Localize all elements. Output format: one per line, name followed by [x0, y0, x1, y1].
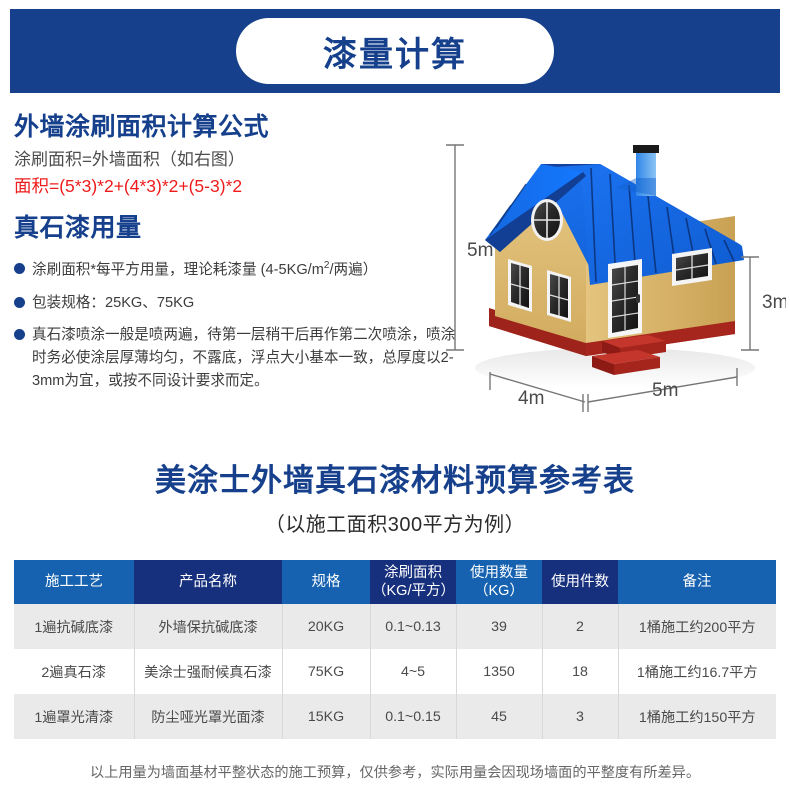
column-header-amount-label: 使用数量 — [458, 564, 540, 582]
table-title-block: 美涂士外墙真石漆材料预算参考表 （以施工面积300平方为例） — [0, 455, 790, 537]
cell-amount: 1350 — [456, 649, 542, 694]
column-header-remark: 备注 — [618, 560, 776, 604]
house-illustration: 5m 3m 4m 5m — [440, 128, 786, 428]
cell-spec: 15KG — [282, 694, 370, 739]
cell-coverage: 0.1~0.15 — [370, 694, 456, 739]
cell-remark: 1桶施工约16.7平方 — [618, 649, 776, 694]
column-header-pieces: 使用件数 — [542, 560, 618, 604]
cell-pieces: 2 — [542, 604, 618, 649]
formula-expression: 面积=(5*3)*2+(4*3)*2+(5-3)*2 — [14, 174, 466, 199]
table-header-row: 施工工艺 产品名称 规格 涂刷面积 （KG/平方） 使用数量 （KG） — [14, 560, 776, 604]
dimension-label-height-right: 3m — [762, 292, 786, 313]
dimension-left-height — [446, 145, 464, 350]
cell-remark: 1桶施工约200平方 — [618, 604, 776, 649]
cell-product: 外墙保抗碱底漆 — [134, 604, 282, 649]
cell-spec: 75KG — [282, 649, 370, 694]
bullet-text: 包装规格：25KG、75KG — [32, 292, 466, 315]
column-header-process: 施工工艺 — [14, 560, 134, 604]
cell-amount: 39 — [456, 604, 542, 649]
column-header-remark-label: 备注 — [620, 573, 774, 591]
dimension-label-width-left: 4m — [518, 388, 544, 409]
cell-coverage: 0.1~0.13 — [370, 604, 456, 649]
column-header-coverage-unit: （KG/平方） — [372, 582, 454, 600]
list-item: 涂刷面积*每平方用量，理论耗漆量 (4-5KG/m2/两遍） — [14, 258, 466, 281]
column-header-product-label: 产品名称 — [136, 573, 280, 591]
table-row: 2遍真石漆 美涂士强耐候真石漆 75KG 4~5 1350 18 1桶施工约16… — [14, 649, 776, 694]
banner-title: 漆量计算 — [323, 27, 467, 76]
table-footnote: 以上用量为墙面基材平整状态的施工预算，仅供参考，实际用量会因现场墙面的平整度有所… — [0, 762, 790, 782]
column-header-spec-label: 规格 — [284, 573, 368, 591]
page-title: 美涂士外墙真石漆材料预算参考表 — [0, 455, 790, 500]
column-header-product: 产品名称 — [134, 560, 282, 604]
dimension-label-height-left: 5m — [467, 240, 493, 261]
banner-pill: 漆量计算 — [236, 18, 554, 84]
bullet-dot-icon — [14, 263, 25, 274]
column-header-amount-unit: （KG） — [458, 582, 540, 600]
column-header-process-label: 施工工艺 — [16, 573, 132, 591]
cell-product: 美涂士强耐候真石漆 — [134, 649, 282, 694]
side-window-1 — [508, 259, 532, 312]
dimension-right-height — [741, 257, 759, 350]
cell-pieces: 3 — [542, 694, 618, 739]
bullet-text: 涂刷面积*每平方用量，理论耗漆量 (4-5KG/m2/两遍） — [32, 258, 466, 281]
column-header-amount: 使用数量 （KG） — [456, 560, 542, 604]
front-window — [672, 248, 712, 286]
door-handle-icon — [636, 294, 640, 303]
formula-heading: 外墙涂刷面积计算公式 — [14, 112, 466, 143]
bullet-text: 真石漆喷涂一般是喷两遍，待第一层稍干后再作第二次喷涂，喷涂时务必使涂层厚薄均匀，… — [32, 324, 466, 392]
bullet-dot-icon — [14, 297, 25, 308]
formula-section: 外墙涂刷面积计算公式 涂刷面积=外墙面积（如右图） 面积=(5*3)*2+(4*… — [14, 112, 466, 402]
usage-bullet-list: 涂刷面积*每平方用量，理论耗漆量 (4-5KG/m2/两遍） 包装规格：25KG… — [14, 258, 466, 392]
list-item: 包装规格：25KG、75KG — [14, 292, 466, 315]
dimension-label-width-right: 5m — [652, 380, 678, 401]
usage-heading: 真石漆用量 — [14, 213, 466, 244]
page-banner: 漆量计算 — [10, 9, 780, 93]
cell-amount: 45 — [456, 694, 542, 739]
house-diagram-svg: 5m 3m 4m 5m — [440, 128, 786, 428]
cell-process: 1遍抗碱底漆 — [14, 604, 134, 649]
bullet-dot-icon — [14, 329, 25, 340]
cell-coverage: 4~5 — [370, 649, 456, 694]
bullet-text-part2: /两遍） — [329, 262, 377, 278]
cell-product: 防尘哑光罩光面漆 — [134, 694, 282, 739]
front-door — [608, 259, 642, 338]
page-subtitle: （以施工面积300平方为例） — [0, 508, 790, 537]
column-header-coverage: 涂刷面积 （KG/平方） — [370, 560, 456, 604]
cell-pieces: 18 — [542, 649, 618, 694]
column-header-pieces-label: 使用件数 — [544, 573, 616, 591]
table-body: 1遍抗碱底漆 外墙保抗碱底漆 20KG 0.1~0.13 39 2 1桶施工约2… — [14, 604, 776, 739]
paint-calculation-page: 漆量计算 外墙涂刷面积计算公式 涂刷面积=外墙面积（如右图） 面积=(5*3)*… — [0, 0, 790, 799]
column-header-spec: 规格 — [282, 560, 370, 604]
budget-table: 施工工艺 产品名称 规格 涂刷面积 （KG/平方） 使用数量 （KG） — [14, 560, 776, 739]
table-row: 1遍抗碱底漆 外墙保抗碱底漆 20KG 0.1~0.13 39 2 1桶施工约2… — [14, 604, 776, 649]
formula-description: 涂刷面积=外墙面积（如右图） — [14, 147, 466, 173]
cell-process: 1遍罩光清漆 — [14, 694, 134, 739]
bullet-text-part1: 涂刷面积*每平方用量，理论耗漆量 (4-5KG/m — [32, 262, 324, 278]
column-header-coverage-label: 涂刷面积 — [372, 564, 454, 582]
budget-table-wrapper: 施工工艺 产品名称 规格 涂刷面积 （KG/平方） 使用数量 （KG） — [14, 560, 776, 739]
cell-process: 2遍真石漆 — [14, 649, 134, 694]
table-row: 1遍罩光清漆 防尘哑光罩光面漆 15KG 0.1~0.15 45 3 1桶施工约… — [14, 694, 776, 739]
side-window-2 — [547, 270, 571, 322]
cell-remark: 1桶施工约150平方 — [618, 694, 776, 739]
cell-spec: 20KG — [282, 604, 370, 649]
table-header: 施工工艺 产品名称 规格 涂刷面积 （KG/平方） 使用数量 （KG） — [14, 560, 776, 604]
list-item: 真石漆喷涂一般是喷两遍，待第一层稍干后再作第二次喷涂，喷涂时务必使涂层厚薄均匀，… — [14, 324, 466, 392]
chimney-cap — [633, 145, 659, 153]
